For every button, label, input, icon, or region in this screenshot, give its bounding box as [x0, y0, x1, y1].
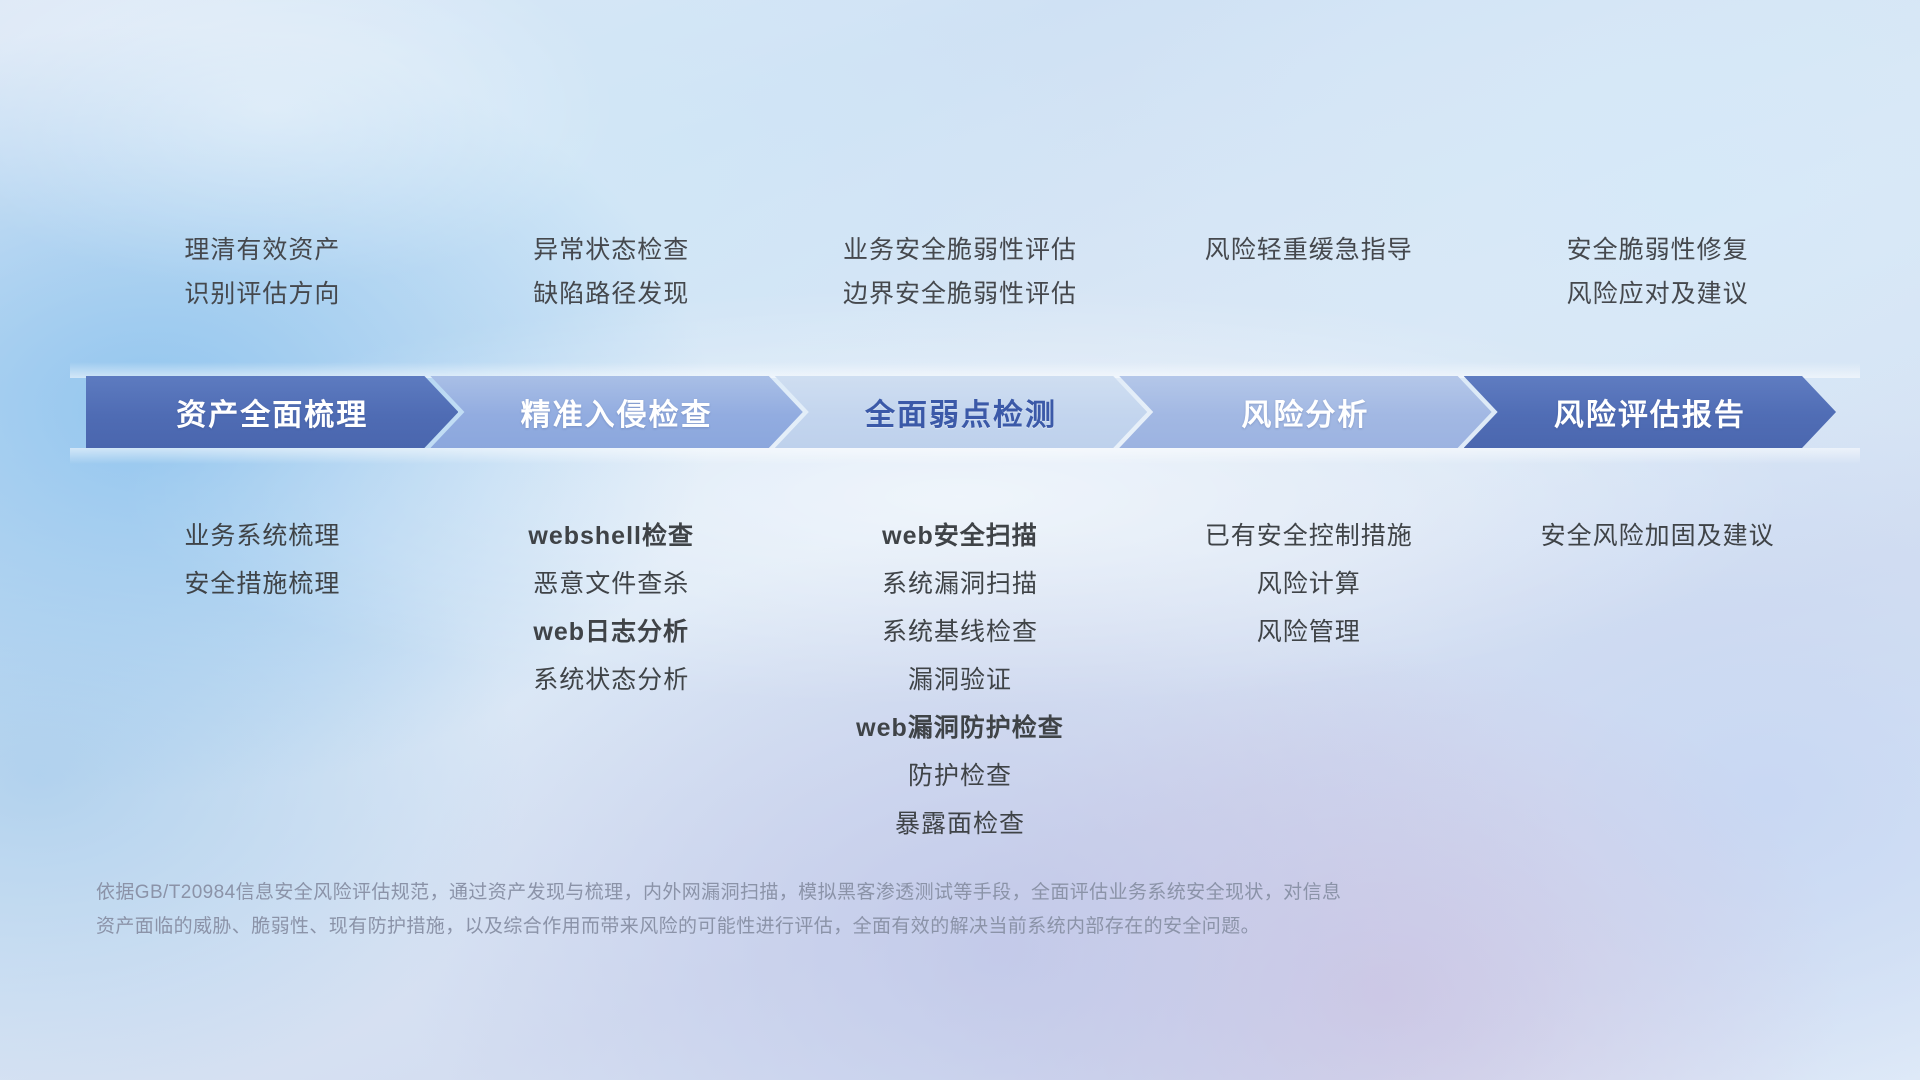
outcome-line: 安全脆弱性修复 [1483, 228, 1832, 272]
activity-item: 风险管理 [1134, 608, 1483, 656]
stage-chevron-1[interactable]: 资产全面梳理 [86, 376, 458, 448]
stage-title: 资产全面梳理 [176, 390, 368, 434]
outcome-cell-2: 异常状态检查 缺陷路径发现 [437, 228, 786, 316]
activity-item: 漏洞验证 [786, 656, 1135, 704]
outcome-line: 异常状态检查 [437, 228, 786, 272]
stage-title: 精准入侵检查 [521, 390, 713, 434]
activity-cell-3: web安全扫描 系统漏洞扫描 系统基线检查 漏洞验证 web漏洞防护检查 防护检… [786, 512, 1135, 848]
activity-item: 安全措施梳理 [88, 560, 437, 608]
outcome-line: 边界安全脆弱性评估 [786, 272, 1135, 316]
activity-item: web漏洞防护检查 [786, 704, 1135, 752]
outcome-line: 风险应对及建议 [1483, 272, 1832, 316]
footer-description: 依据GB/T20984信息安全风险评估规范，通过资产发现与梳理，内外网漏洞扫描，… [96, 876, 1616, 944]
activity-item: 风险计算 [1134, 560, 1483, 608]
outcome-cell-4: 风险轻重缓急指导 [1134, 228, 1483, 316]
activity-cell-2: webshell检查 恶意文件查杀 web日志分析 系统状态分析 [437, 512, 786, 848]
outcome-row: 理清有效资产 识别评估方向 异常状态检查 缺陷路径发现 业务安全脆弱性评估 边界… [88, 228, 1832, 316]
stage-chevron-4[interactable]: 风险分析 [1119, 376, 1491, 448]
stage-chevron-2[interactable]: 精准入侵检查 [430, 376, 802, 448]
outcome-cell-1: 理清有效资产 识别评估方向 [88, 228, 437, 316]
activity-item: 系统状态分析 [437, 656, 786, 704]
outcome-line: 理清有效资产 [88, 228, 437, 272]
outcome-line: 业务安全脆弱性评估 [786, 228, 1135, 272]
outcome-cell-5: 安全脆弱性修复 风险应对及建议 [1483, 228, 1832, 316]
activity-item: 系统基线检查 [786, 608, 1135, 656]
activity-cell-1: 业务系统梳理 安全措施梳理 [88, 512, 437, 848]
footer-line-2: 资产面临的威胁、脆弱性、现有防护措施，以及综合作用而带来风险的可能性进行评估，全… [96, 910, 1616, 944]
activity-row: 业务系统梳理 安全措施梳理 webshell检查 恶意文件查杀 web日志分析 … [88, 512, 1832, 848]
outcome-cell-3: 业务安全脆弱性评估 边界安全脆弱性评估 [786, 228, 1135, 316]
activity-item: 业务系统梳理 [88, 512, 437, 560]
stage-chevron-5[interactable]: 风险评估报告 [1464, 376, 1836, 448]
process-diagram: 理清有效资产 识别评估方向 异常状态检查 缺陷路径发现 业务安全脆弱性评估 边界… [0, 0, 1920, 1080]
activity-cell-4: 已有安全控制措施 风险计算 风险管理 [1134, 512, 1483, 848]
chevron-band: 资产全面梳理 精准入侵检查 全面弱点检测 风险分析 风险评估报告 [86, 376, 1836, 448]
activity-item: web日志分析 [437, 608, 786, 656]
outcome-line: 识别评估方向 [88, 272, 437, 316]
outcome-line: 缺陷路径发现 [437, 272, 786, 316]
footer-line-1: 依据GB/T20984信息安全风险评估规范，通过资产发现与梳理，内外网漏洞扫描，… [96, 876, 1616, 910]
activity-item: 防护检查 [786, 752, 1135, 800]
activity-item: 安全风险加固及建议 [1483, 512, 1832, 560]
activity-item: webshell检查 [437, 512, 786, 560]
activity-item: 恶意文件查杀 [437, 560, 786, 608]
activity-item: 系统漏洞扫描 [786, 560, 1135, 608]
stage-title: 全面弱点检测 [865, 390, 1057, 434]
band-glow-bottom [70, 448, 1860, 464]
stage-chevron-3[interactable]: 全面弱点检测 [775, 376, 1147, 448]
activity-item: web安全扫描 [786, 512, 1135, 560]
activity-cell-5: 安全风险加固及建议 [1483, 512, 1832, 848]
stage-title: 风险分析 [1241, 390, 1369, 434]
stage-title: 风险评估报告 [1554, 390, 1746, 434]
activity-item: 已有安全控制措施 [1134, 512, 1483, 560]
outcome-line: 风险轻重缓急指导 [1134, 228, 1483, 272]
activity-item: 暴露面检查 [786, 800, 1135, 848]
